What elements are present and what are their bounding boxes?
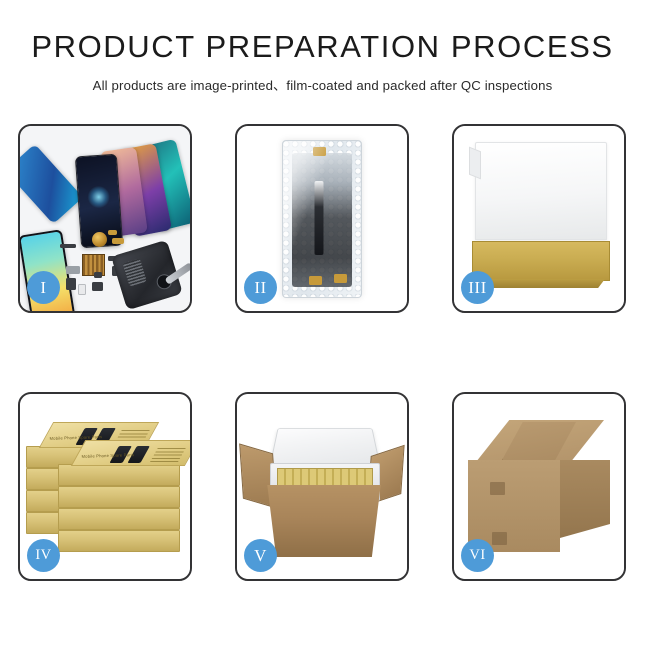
small-part	[92, 282, 103, 291]
stacked-box	[58, 508, 180, 530]
step-badge-5: V	[244, 539, 277, 572]
box-lid-white	[475, 142, 607, 240]
step-panel-5: V	[235, 392, 409, 581]
small-part	[108, 230, 117, 235]
small-part	[112, 238, 124, 244]
step-panel-1: I	[18, 124, 192, 313]
phone-back-blue	[20, 144, 83, 224]
stacked-box	[58, 464, 180, 486]
step-badge-4: IV	[27, 539, 60, 572]
foam-cooler-lid	[270, 428, 380, 465]
step-badge-6: VI	[461, 539, 494, 572]
carton-front-face	[468, 460, 560, 552]
stacked-box	[58, 530, 180, 552]
header: PRODUCT PREPARATION PROCESS All products…	[0, 0, 645, 94]
kraft-box-base	[472, 241, 610, 281]
step-panel-4: Mobile Phone Spare Parts Mobile Phone Sp…	[18, 392, 192, 581]
small-part	[78, 284, 86, 295]
step-badge-3: III	[461, 271, 494, 304]
page-subtitle: All products are image-printed、film-coat…	[0, 75, 645, 94]
sealed-carton	[468, 420, 616, 556]
page-title: PRODUCT PREPARATION PROCESS	[0, 30, 645, 64]
coil-part	[92, 232, 107, 247]
small-part	[60, 244, 76, 248]
step-badge-2: II	[244, 271, 277, 304]
process-step-grid: I II III	[18, 124, 627, 582]
step-panel-2: II	[235, 124, 409, 313]
step-panel-3: III	[452, 124, 626, 313]
box-lid-printed: Mobile Phone Spare Parts	[71, 440, 190, 466]
carton-hand-hole	[490, 482, 505, 495]
box-print-label: Mobile Phone Spare Parts	[82, 452, 135, 459]
small-part	[94, 272, 102, 278]
step-panel-6: VI	[452, 392, 626, 581]
step-badge-1: I	[27, 271, 60, 304]
infographic-page: PRODUCT PREPARATION PROCESS All products…	[0, 0, 645, 645]
bag-gloss	[283, 141, 361, 297]
shipping-carton-open	[261, 485, 387, 557]
bubble-wrap-bag	[282, 140, 362, 298]
lid-text-block	[150, 446, 187, 462]
small-part	[66, 266, 80, 274]
stacked-box	[58, 486, 180, 508]
carton-side-face	[560, 460, 610, 538]
small-part	[66, 278, 76, 290]
carton-hand-hole	[492, 532, 507, 545]
